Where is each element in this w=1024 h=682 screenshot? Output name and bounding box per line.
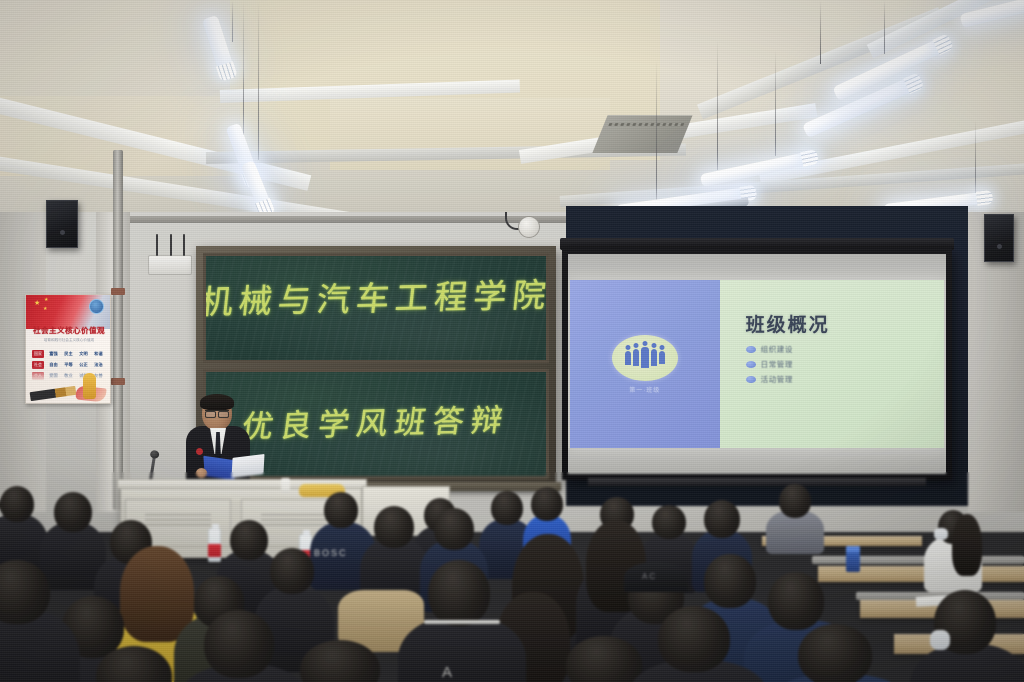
poster-emblem-icon	[89, 299, 104, 314]
person-figure-icon	[641, 347, 649, 368]
blackboard-panel-top: 机械与汽车工程学院	[203, 253, 549, 363]
person-figure-icon	[633, 349, 639, 366]
slide-bullet-list: 组织建设 日常管理 活动管理	[746, 344, 944, 385]
lamp-wire	[820, 0, 821, 64]
lamp-wire	[717, 40, 718, 170]
lamp-wire	[258, 0, 259, 160]
bullet-dot-icon	[746, 361, 756, 368]
lamp-wire	[775, 50, 776, 156]
blackboard-text-top: 机械与汽车工程学院	[203, 268, 549, 323]
slide-right-panel: 班级概况 组织建设 日常管理 活动管理	[720, 280, 944, 448]
group-people-icon	[612, 335, 678, 381]
poster-value: 富强	[49, 351, 57, 357]
slide-bullet-item: 活动管理	[746, 374, 944, 385]
blackboard: 机械与汽车工程学院 优良学风班答辩	[196, 246, 556, 486]
poster-star-icon: ★	[34, 300, 40, 307]
poster-subtitle: 培育和践行社会主义核心价值观	[33, 338, 105, 343]
poster-figure-graphic	[83, 373, 96, 399]
folder-page	[231, 454, 264, 478]
audience-head	[270, 548, 314, 594]
poster-star-icon: ★	[43, 306, 47, 313]
audience-head	[491, 491, 523, 525]
audience-head	[768, 572, 824, 630]
blackboard-text-bottom: 优良学风班答辩	[203, 394, 549, 448]
lamp-wire	[884, 0, 885, 54]
water-bottle	[208, 528, 221, 562]
poster-row-label: 国家	[32, 350, 44, 358]
cabinet-vent	[261, 514, 327, 530]
audience-hair	[952, 514, 982, 576]
core-values-poster: ★ ★ ★ 社会主义核心价值观 培育和践行社会主义核心价值观 国家 富强 民主 …	[25, 294, 111, 404]
router-antenna	[183, 234, 185, 256]
screen-letterbox-bottom	[568, 448, 946, 474]
desk-rail	[812, 556, 1024, 564]
screen-surface: 第一·班级 班级概况 组织建设 日常管理	[568, 254, 946, 474]
ceiling-vent	[592, 115, 692, 153]
audience-head	[0, 486, 34, 522]
person-figure-icon	[659, 351, 665, 364]
cabinet-vent	[145, 514, 211, 530]
poster-row-values: 富强 民主 文明 和谐	[46, 351, 106, 357]
poster-value: 文明	[79, 351, 87, 357]
poster-star-icon: ★	[44, 297, 48, 304]
audience-head	[704, 554, 756, 608]
slide: 第一·班级 班级概况 组织建设 日常管理	[570, 280, 944, 448]
face-mask	[934, 528, 948, 540]
blackboard-inner: 机械与汽车工程学院 优良学风班答辩	[203, 253, 549, 479]
audience-head	[434, 508, 474, 550]
bullet-dot-icon	[746, 346, 756, 353]
lamp-wire	[232, 0, 233, 42]
audience-head	[204, 610, 274, 678]
audience-head	[652, 505, 686, 539]
pipe-band	[111, 378, 125, 385]
audience-head	[230, 520, 268, 560]
slide-logo-caption: 第一·班级	[629, 385, 660, 394]
audience-head	[798, 624, 872, 682]
wall-speaker-left	[46, 200, 78, 248]
shirt-text: A W	[442, 664, 458, 682]
slide-bullet-item: 日常管理	[746, 359, 944, 370]
projection-screen: 第一·班级 班级概况 组织建设 日常管理	[562, 248, 952, 480]
audience-head	[779, 484, 811, 518]
audience-head	[54, 492, 92, 532]
router-antenna	[170, 234, 172, 256]
ceiling	[0, 0, 1024, 232]
slide-left-panel: 第一·班级	[570, 280, 720, 448]
lamp-wire	[656, 60, 657, 202]
person-figure-icon	[625, 351, 631, 365]
slide-bullet-label: 组织建设	[761, 344, 793, 355]
classroom-photo-scene: ★ ★ ★ 社会主义核心价值观 培育和践行社会主义核心价值观 国家 富强 民主 …	[0, 0, 1024, 682]
audience-head	[428, 560, 490, 626]
wall-clock	[518, 216, 540, 238]
slide-bullet-label: 活动管理	[761, 374, 793, 385]
slide-bullet-label: 日常管理	[761, 359, 793, 370]
screen-letterbox-top	[568, 254, 946, 280]
cap-text: AC	[642, 572, 657, 581]
face-mask	[930, 630, 950, 650]
wall-speaker-right	[984, 214, 1014, 262]
audience-member-grey-suit	[766, 484, 824, 550]
audience-head	[704, 500, 740, 538]
wall-router	[148, 255, 192, 275]
glasses-icon	[205, 410, 229, 415]
slide-title: 班级概况	[746, 310, 944, 337]
person-figure-icon	[651, 349, 657, 366]
pipe-band	[111, 288, 125, 295]
audience-head	[324, 492, 358, 528]
lamp-wire	[975, 120, 976, 202]
screen-bottom-bar	[588, 478, 926, 486]
presenter-hair	[200, 394, 234, 410]
poster-value: 民主	[64, 351, 72, 357]
presenter-badge	[196, 448, 203, 455]
folder-cover	[203, 456, 234, 481]
bullet-dot-icon	[746, 376, 756, 383]
presenter-hand	[196, 468, 207, 478]
blue-thermos	[846, 546, 860, 572]
poster-title: 社会主义核心价值观	[31, 325, 107, 336]
lamp-wire	[243, 0, 244, 148]
desk-object	[281, 478, 290, 493]
shirt-collar	[424, 620, 500, 624]
slide-bullet-item: 组织建设	[746, 344, 944, 355]
audience-head	[374, 506, 414, 548]
audience-head	[531, 487, 563, 521]
wall-trim	[130, 216, 566, 223]
poster-value: 和谐	[94, 351, 102, 357]
shirt-text: BOSC	[314, 548, 348, 558]
poster-row: 国家 富强 民主 文明 和谐	[32, 349, 106, 359]
bottle-label	[208, 544, 221, 557]
audience-head	[658, 606, 730, 672]
wall-pipe	[113, 150, 123, 510]
router-antenna	[156, 234, 158, 256]
